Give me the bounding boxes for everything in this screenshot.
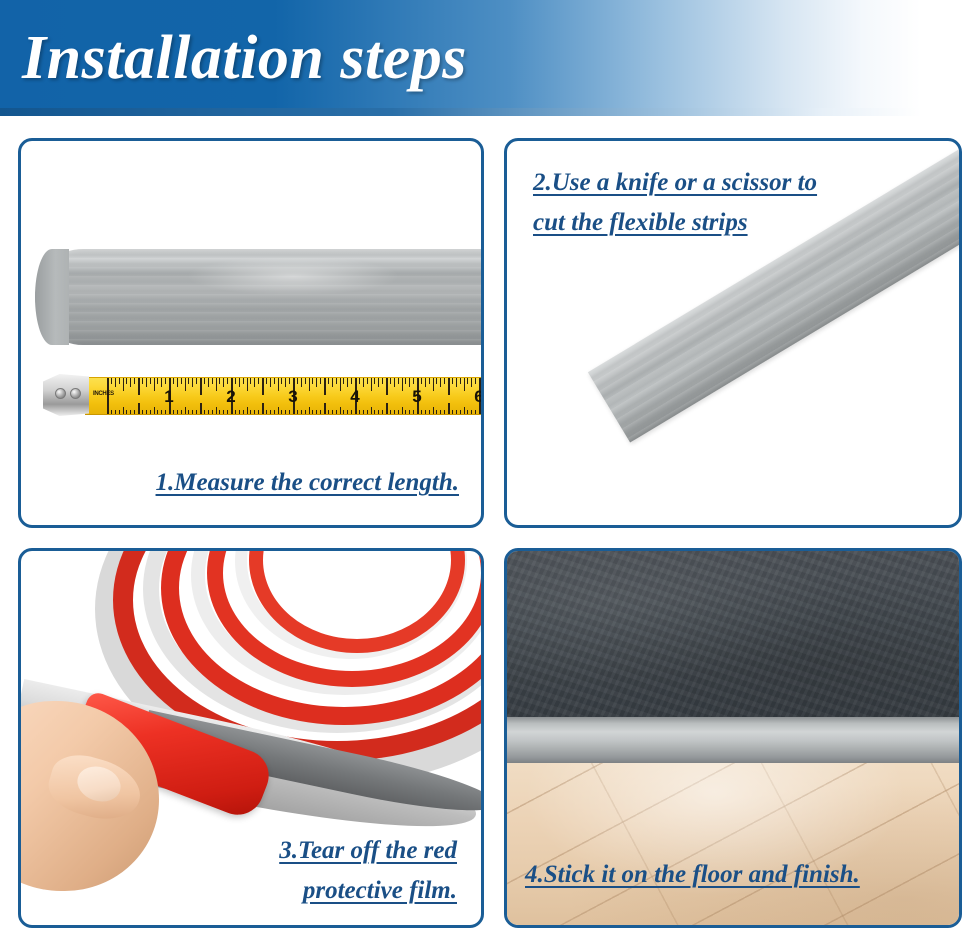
tape-tick	[270, 410, 271, 414]
tape-tick	[188, 410, 189, 414]
tape-tick	[305, 378, 306, 384]
molding-strip-illustration	[35, 249, 481, 345]
tape-tick	[208, 410, 209, 414]
tape-tick	[243, 410, 244, 414]
tape-tick	[367, 378, 368, 384]
tape-tick	[386, 403, 388, 414]
tape-tick	[297, 378, 298, 384]
tape-tick	[336, 410, 337, 414]
tape-tick	[247, 378, 248, 391]
tape-tick	[347, 410, 348, 414]
tape-tick	[378, 378, 379, 387]
tape-tick	[371, 407, 372, 414]
tape-tick	[452, 378, 453, 384]
tape-tick	[216, 378, 217, 391]
tape-tick	[309, 378, 310, 391]
header-banner: Installation steps	[0, 0, 980, 116]
step-4-caption: 4.Stick it on the floor and finish.	[525, 855, 860, 895]
tape-tick	[204, 378, 205, 384]
tape-measure-unit-label: INCHES	[93, 391, 114, 397]
tape-tick	[130, 410, 131, 414]
tape-tick	[138, 378, 140, 395]
molding-strip-end-cap	[35, 249, 69, 345]
tape-tick	[444, 378, 445, 384]
tape-measure-number: 2	[226, 387, 235, 407]
tape-tick	[413, 378, 414, 384]
tape-measure-number: 3	[288, 387, 297, 407]
tape-tick	[324, 403, 326, 414]
step-3-caption: 3.Tear off the red protective film.	[21, 831, 457, 911]
tape-tick	[208, 378, 209, 387]
tape-tick	[421, 410, 422, 414]
tape-tick	[324, 378, 326, 395]
tape-tick	[289, 410, 290, 414]
tape-tick	[456, 378, 457, 387]
tape-tick	[173, 378, 174, 384]
tape-tick	[440, 410, 441, 414]
tape-tick	[332, 410, 333, 414]
tape-tick	[281, 378, 282, 384]
tape-measure-blade: 123456	[85, 377, 481, 415]
tape-tick	[309, 407, 310, 414]
tape-tick	[340, 378, 341, 391]
step-panel-2: 2.Use a knife or a scissor to cut the fl…	[504, 138, 962, 528]
tape-tick	[301, 378, 302, 387]
tape-tick	[359, 410, 360, 414]
tape-tick	[200, 403, 202, 414]
tape-tick	[250, 378, 251, 384]
tape-tick	[281, 410, 282, 414]
tape-tick	[262, 403, 264, 414]
tape-tick	[340, 407, 341, 414]
tape-tick	[382, 378, 383, 384]
tape-tick	[405, 410, 406, 414]
tape-tick	[312, 378, 313, 384]
tape-tick	[351, 410, 352, 414]
tape-tick	[130, 378, 131, 387]
tape-tick	[266, 410, 267, 414]
tape-tick	[150, 410, 151, 414]
tape-tick	[278, 407, 279, 414]
tape-tick	[161, 410, 162, 414]
tape-tick	[374, 410, 375, 414]
tape-tick	[177, 410, 178, 414]
tape-measure-number: 6	[474, 387, 481, 407]
tape-tick	[382, 410, 383, 414]
tape-tick	[429, 378, 430, 384]
tape-tick	[126, 410, 127, 414]
tape-tick	[374, 378, 375, 384]
tape-tick	[471, 378, 472, 387]
tape-tick	[436, 410, 437, 414]
tape-tick	[188, 378, 189, 384]
tape-tick	[126, 378, 127, 384]
tape-tick	[475, 410, 476, 414]
tape-tick	[115, 410, 116, 414]
tape-tick	[270, 378, 271, 387]
tape-tick	[386, 378, 388, 395]
installed-molding-strip	[507, 717, 959, 763]
tape-tick	[456, 410, 457, 414]
tape-tick	[409, 410, 410, 414]
tape-measure-hook	[43, 374, 89, 416]
tape-tick	[394, 378, 395, 387]
tape-tick	[312, 410, 313, 414]
tape-tick	[394, 410, 395, 414]
tape-tick	[185, 378, 186, 391]
tape-tick	[181, 378, 182, 384]
tape-tick	[161, 378, 162, 387]
tape-tick	[452, 410, 453, 414]
caption-line: 4.Stick it on the floor and finish.	[525, 855, 860, 895]
tape-tick	[475, 378, 476, 384]
tape-tick	[332, 378, 333, 387]
tape-tick	[154, 407, 155, 414]
tape-tick	[320, 410, 321, 414]
tape-tick	[285, 410, 286, 414]
tape-tick	[378, 410, 379, 414]
tape-tick	[460, 378, 461, 384]
tape-tick	[413, 410, 414, 414]
tape-measure-illustration: 123456 INCHES	[43, 377, 481, 413]
tape-tick	[123, 407, 124, 414]
step-panel-4: 4.Stick it on the floor and finish.	[504, 548, 962, 928]
tape-tick	[433, 378, 434, 391]
tape-tick	[243, 378, 244, 384]
hook-rivet-right	[70, 388, 81, 399]
tape-tick	[192, 378, 193, 387]
tape-tick	[239, 410, 240, 414]
tape-tick	[258, 410, 259, 414]
tape-tick	[278, 378, 279, 391]
tape-tick	[316, 378, 317, 387]
tape-tick	[235, 410, 236, 414]
tape-tick	[227, 410, 228, 414]
tape-tick	[320, 378, 321, 384]
step-2-caption: 2.Use a knife or a scissor to cut the fl…	[533, 163, 817, 243]
tape-tick	[464, 378, 465, 391]
tape-tick	[219, 378, 220, 384]
tape-tick	[216, 407, 217, 414]
tape-tick	[363, 410, 364, 414]
tape-tick	[239, 378, 240, 387]
tape-tick	[123, 378, 124, 391]
tape-tick	[305, 410, 306, 414]
tape-tick	[464, 407, 465, 414]
tape-tick	[343, 378, 344, 384]
tape-tick	[402, 378, 403, 391]
tape-tick	[336, 378, 337, 384]
tape-tick	[138, 403, 140, 414]
tape-tick	[258, 378, 259, 384]
tape-tick	[254, 410, 255, 414]
tape-tick	[266, 378, 267, 384]
step-panel-3: 3.Tear off the red protective film.	[18, 548, 484, 928]
tape-tick	[154, 378, 155, 391]
tape-tick	[196, 410, 197, 414]
tape-tick	[328, 410, 329, 414]
tape-tick	[173, 410, 174, 414]
header-underbar-accent	[0, 108, 980, 116]
steps-panel-grid: 123456 INCHES 1.Measure the correct leng…	[18, 138, 962, 928]
tape-tick	[111, 410, 112, 414]
caption-line: 3.Tear off the red	[21, 831, 457, 871]
tape-tick	[367, 410, 368, 414]
page-title: Installation steps	[22, 18, 467, 98]
tape-tick	[262, 378, 264, 395]
tape-tick	[297, 410, 298, 414]
dark-wall-surface	[507, 551, 959, 719]
tape-tick	[409, 378, 410, 387]
tape-tick	[433, 407, 434, 414]
tape-tick	[448, 378, 450, 395]
tape-tick	[177, 378, 178, 387]
tape-tick	[467, 378, 468, 384]
tape-tick	[390, 378, 391, 384]
tape-tick	[247, 407, 248, 414]
caption-line: protective film.	[21, 871, 457, 911]
tape-tick	[185, 407, 186, 414]
tape-tick	[343, 410, 344, 414]
tape-tick	[223, 410, 224, 414]
tape-tick	[200, 378, 202, 395]
tape-tick	[316, 410, 317, 414]
tape-tick	[390, 410, 391, 414]
tape-tick	[192, 410, 193, 414]
hook-rivet-left	[55, 388, 66, 399]
tape-tick	[223, 378, 224, 387]
tape-tick	[398, 378, 399, 384]
tape-tick	[119, 410, 120, 414]
tape-measure-number: 5	[412, 387, 421, 407]
tape-tick	[421, 378, 422, 384]
tape-tick	[440, 378, 441, 387]
tape-tick	[157, 378, 158, 384]
tape-tick	[142, 410, 143, 414]
tape-tick	[351, 378, 352, 384]
tape-tick	[254, 378, 255, 387]
tape-tick	[181, 410, 182, 414]
step-1-caption: 1.Measure the correct length.	[21, 463, 459, 503]
tape-tick	[219, 410, 220, 414]
tape-tick	[235, 378, 236, 384]
tape-tick	[165, 410, 166, 414]
tape-measure-number: 1	[164, 387, 173, 407]
tape-tick	[115, 378, 116, 387]
tape-tick	[119, 378, 120, 384]
tape-tick	[371, 378, 372, 391]
tape-tick	[111, 378, 112, 384]
tape-tick	[196, 378, 197, 384]
tape-tick	[363, 378, 364, 387]
tape-tick	[227, 378, 228, 384]
wood-floor-surface	[507, 763, 959, 925]
tape-tick	[347, 378, 348, 387]
tape-tick	[448, 403, 450, 414]
tape-tick	[157, 410, 158, 414]
tape-tick	[134, 378, 135, 384]
tape-tick	[274, 378, 275, 384]
tape-tick	[212, 410, 213, 414]
caption-line: 2.Use a knife or a scissor to	[533, 163, 817, 203]
tape-tick	[250, 410, 251, 414]
tape-tick	[274, 410, 275, 414]
tape-tick	[471, 410, 472, 414]
tape-measure-number: 4	[350, 387, 359, 407]
tape-tick	[289, 378, 290, 384]
tape-tick	[301, 410, 302, 414]
tape-tick	[460, 410, 461, 414]
tape-tick	[425, 378, 426, 387]
tape-tick	[204, 410, 205, 414]
tape-tick	[146, 378, 147, 387]
tape-tick	[107, 394, 109, 414]
caption-line: cut the flexible strips	[533, 203, 817, 243]
tape-tick	[134, 410, 135, 414]
tape-tick	[405, 378, 406, 384]
tape-tick	[212, 378, 213, 384]
tape-tick	[429, 410, 430, 414]
tape-tick	[165, 378, 166, 384]
caption-line: 1.Measure the correct length.	[21, 463, 459, 503]
tape-tick	[425, 410, 426, 414]
tape-tick	[328, 378, 329, 384]
tape-tick	[150, 378, 151, 384]
tape-tick	[467, 410, 468, 414]
tape-tick	[142, 378, 143, 384]
tape-tick	[444, 410, 445, 414]
tape-tick	[436, 378, 437, 384]
tape-tick	[398, 410, 399, 414]
step-panel-1: 123456 INCHES 1.Measure the correct leng…	[18, 138, 484, 528]
tape-tick	[285, 378, 286, 387]
tape-tick	[359, 378, 360, 384]
tape-tick	[402, 407, 403, 414]
tape-tick	[146, 410, 147, 414]
